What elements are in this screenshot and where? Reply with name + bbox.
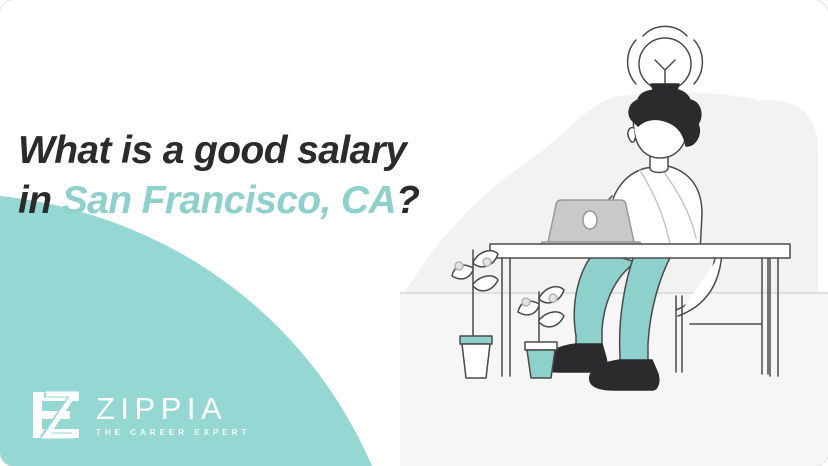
page-title: What is a good salary in San Francisco, … [18,126,438,226]
potted-plant-right-icon [518,287,564,378]
zippia-wordmark-group: ZIPPIA THE CAREER EXPERT [96,393,250,437]
potted-plant-left-icon [452,250,498,378]
headline-line-1: What is a good salary [18,126,438,176]
desk-icon [490,244,790,376]
headline-prefix: in [18,179,62,222]
promo-card: What is a good salary in San Francisco, … [0,0,828,466]
chair-icon [676,250,768,374]
floor-fill [400,293,828,466]
background-blob-right [700,100,818,300]
background-blob [400,93,790,300]
zippia-wordmark: ZIPPIA [96,393,250,424]
lightbulb-icon [628,26,703,95]
laptop-icon [540,200,642,248]
headline-line-2: in San Francisco, CA? [18,176,438,226]
headline-location: San Francisco, CA [62,179,396,222]
zippia-logo[interactable]: ZIPPIA THE CAREER EXPERT [30,389,250,441]
zippia-z-square-icon [30,389,82,441]
zippia-tagline: THE CAREER EXPERT [96,429,250,437]
headline-suffix: ? [396,179,419,222]
person-figure [539,89,702,390]
